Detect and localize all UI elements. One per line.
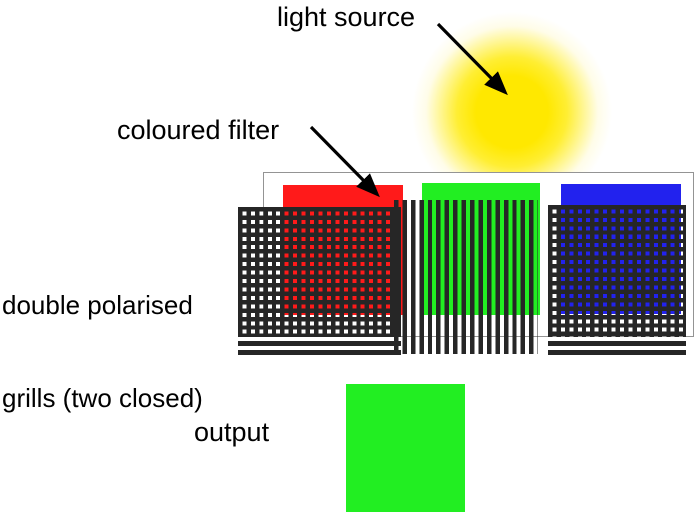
grill-vertical-bars (394, 200, 538, 354)
grill-base-bar-red-lower (238, 350, 401, 355)
light-source-label: light source (277, 3, 415, 32)
light-source-glow (412, 12, 612, 172)
grills-label-line-2: grills (two closed) (2, 383, 203, 414)
polarised-grill-blue-closed (548, 205, 686, 337)
double-polarised-grills-label: double polarised grills (two closed) (2, 228, 203, 476)
grill-horizontal-bars (238, 207, 401, 337)
grill-horizontal-bars (548, 205, 686, 337)
output-colour-swatch (346, 384, 465, 512)
polarised-grill-red-closed (238, 207, 401, 337)
coloured-filter-label: coloured filter (117, 116, 279, 145)
grills-label-line-1: double polarised (2, 290, 203, 321)
grill-base-bar-blue-upper (548, 341, 686, 346)
grill-base-bar-blue-lower (548, 350, 686, 355)
polarised-grill-green-open (394, 200, 538, 354)
output-label: output (194, 418, 269, 447)
diagram-canvas: light source coloured filter double pola… (0, 0, 698, 512)
grill-base-bar-red-upper (238, 341, 401, 346)
